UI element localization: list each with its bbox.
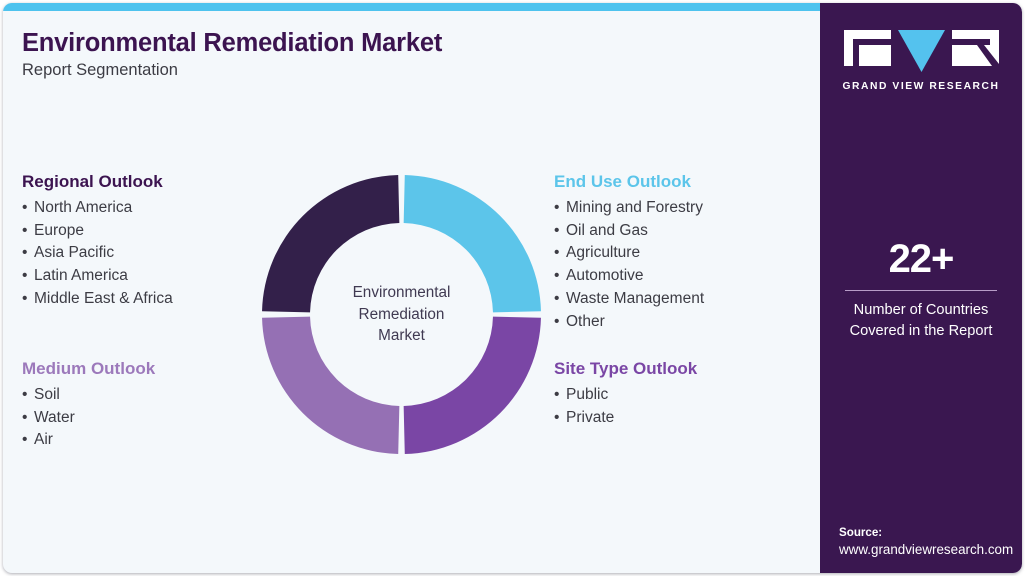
list-item: Water	[22, 407, 155, 430]
section-regional-outlook: Regional Outlook North America Europe As…	[22, 173, 173, 311]
segmentation-donut-chart: Environmental Remediation Market	[262, 175, 541, 454]
list-item: Middle East & Africa	[22, 288, 173, 311]
stat-number: 22+	[820, 239, 1022, 279]
logo-v-triangle	[898, 30, 945, 72]
list-regional-outlook: North America Europe Asia Pacific Latin …	[22, 197, 173, 311]
grand-view-research-logo: GRAND VIEW RESEARCH	[820, 30, 1022, 92]
source-url[interactable]: www.grandviewresearch.com	[839, 541, 1019, 559]
section-medium-outlook: Medium Outlook Soil Water Air	[22, 360, 155, 452]
donut-segment	[404, 317, 541, 454]
logo-r-mark	[952, 30, 999, 66]
brand-sidebar: GRAND VIEW RESEARCH 22+ Number of Countr…	[820, 3, 1022, 573]
stat-label-line-1: Number of Countries	[820, 300, 1022, 321]
donut-segment	[404, 175, 541, 312]
section-heading-medium: Medium Outlook	[22, 360, 155, 377]
list-item: Private	[554, 407, 697, 430]
logo-wordmark: GRAND VIEW RESEARCH	[842, 81, 999, 92]
list-end-use-outlook: Mining and Forestry Oil and Gas Agricult…	[554, 197, 704, 333]
list-item: Europe	[22, 220, 173, 243]
list-item: Agriculture	[554, 242, 704, 265]
list-item: Soil	[22, 384, 155, 407]
list-item: Public	[554, 384, 697, 407]
logo-marks	[844, 30, 999, 72]
logo-g-mark	[844, 30, 891, 66]
list-item: Latin America	[22, 265, 173, 288]
list-item: Oil and Gas	[554, 220, 704, 243]
stat-divider	[845, 290, 997, 291]
list-item: Asia Pacific	[22, 242, 173, 265]
list-item: Automotive	[554, 265, 704, 288]
page-title: Environmental Remediation Market	[22, 29, 442, 58]
top-accent-bar	[3, 3, 823, 11]
list-item: Waste Management	[554, 288, 704, 311]
countries-stat: 22+ Number of Countries Covered in the R…	[820, 239, 1022, 341]
stat-label-line-2: Covered in the Report	[820, 321, 1022, 342]
source-title: Source:	[839, 524, 1019, 541]
infographic-canvas: Environmental Remediation Market Report …	[0, 0, 1025, 576]
source-block: Source: www.grandviewresearch.com	[839, 524, 1019, 559]
list-item: North America	[22, 197, 173, 220]
list-medium-outlook: Soil Water Air	[22, 384, 155, 452]
section-heading-end-use: End Use Outlook	[554, 173, 704, 190]
list-site-type-outlook: Public Private	[554, 384, 697, 429]
list-item: Air	[22, 429, 155, 452]
page-subtitle: Report Segmentation	[22, 61, 178, 80]
section-heading-site-type: Site Type Outlook	[554, 360, 697, 377]
section-site-type-outlook: Site Type Outlook Public Private	[554, 360, 697, 429]
list-item: Mining and Forestry	[554, 197, 704, 220]
donut-segment	[262, 317, 399, 454]
section-end-use-outlook: End Use Outlook Mining and Forestry Oil …	[554, 173, 704, 333]
report-card: Environmental Remediation Market Report …	[3, 3, 1022, 573]
donut-svg	[262, 175, 541, 454]
list-item: Other	[554, 311, 704, 334]
donut-segment	[262, 175, 399, 312]
section-heading-regional: Regional Outlook	[22, 173, 173, 190]
